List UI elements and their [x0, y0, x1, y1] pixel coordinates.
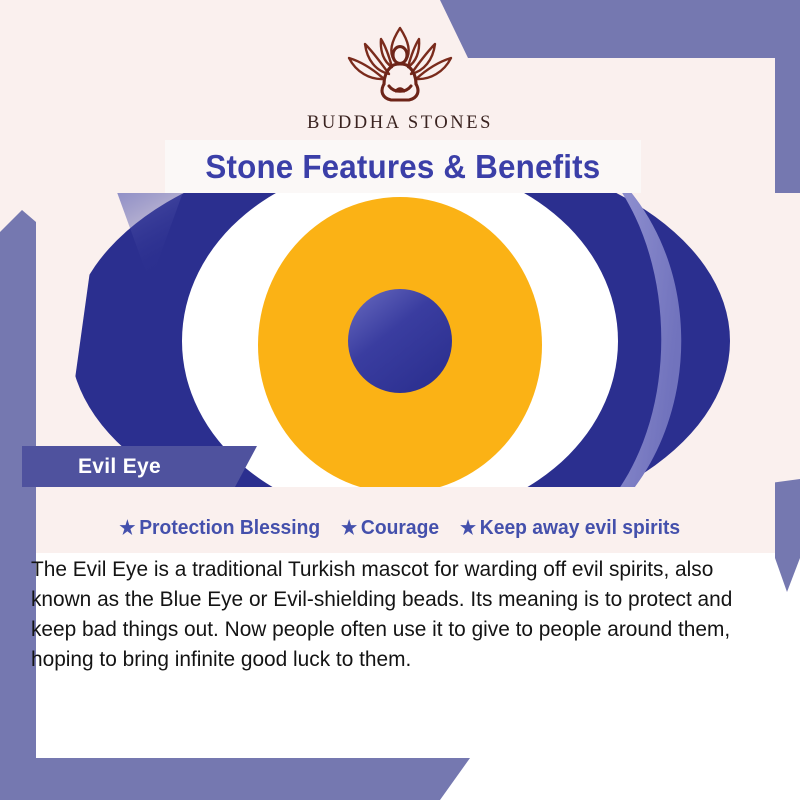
brand-wordmark: BUDDHA STONES: [307, 113, 493, 134]
section-title-band: Stone Features & Benefits: [165, 140, 641, 193]
benefit-label: Protection Blessing: [139, 516, 320, 540]
benefit-label: Keep away evil spirits: [480, 516, 680, 540]
star-icon: ★: [341, 519, 357, 538]
brand-logo-block: BUDDHA STONES: [0, 22, 800, 134]
lotus-meditation-icon: [334, 22, 466, 108]
hero-image: [0, 193, 800, 489]
benefit-item: ★ Protection Blessing: [119, 516, 320, 540]
star-icon: ★: [119, 519, 135, 538]
benefit-item: ★ Courage: [341, 516, 439, 540]
benefits-row: ★ Protection Blessing ★ Courage ★ Keep a…: [0, 516, 800, 540]
infographic-content: BUDDHA STONES Stone Features & Benefits: [0, 0, 800, 800]
stone-name-label: Evil Eye: [78, 446, 161, 487]
benefit-label: Courage: [361, 516, 439, 540]
evil-eye-artwork: [0, 193, 800, 489]
stone-description: The Evil Eye is a traditional Turkish ma…: [31, 554, 751, 674]
evil-eye-bead-image: [0, 193, 800, 489]
benefit-item: ★ Keep away evil spirits: [460, 516, 680, 540]
eye-pupil: [348, 289, 452, 393]
star-icon: ★: [460, 519, 476, 538]
page-title: Stone Features & Benefits: [206, 148, 601, 186]
stone-name-banner: Evil Eye: [22, 446, 257, 487]
